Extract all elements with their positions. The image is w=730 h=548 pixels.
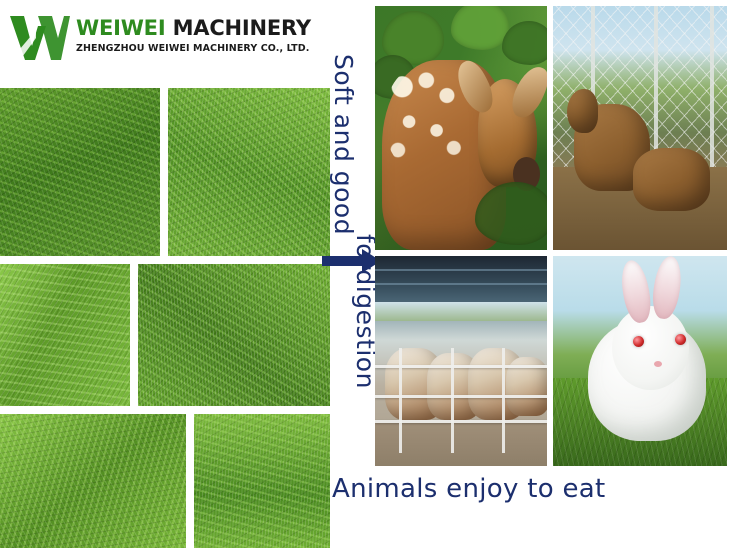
poster: WEIWEI MACHINERY ZHENGZHOU WEIWEI MACHIN… <box>0 0 730 548</box>
photo-divider-h <box>375 250 727 256</box>
weiwei-w-logo-icon <box>8 12 72 64</box>
photo-deer-in-enclosure <box>553 6 727 250</box>
brand-subtitle: ZHENGZHOU WEIWEI MACHINERY CO., LTD. <box>76 43 306 54</box>
bottom-caption: Animals enjoy to eat <box>332 474 606 504</box>
photo-deer-in-woods <box>375 6 547 250</box>
brand-logo: WEIWEI MACHINERY ZHENGZHOU WEIWEI MACHIN… <box>8 10 308 72</box>
vertical-headline: Soft and good fordigestion <box>322 54 358 235</box>
chopped-grass-collage <box>0 88 330 548</box>
grass-divider-h1 <box>0 256 330 264</box>
photo-white-rabbit <box>553 256 727 466</box>
photo-divider-v <box>547 6 553 466</box>
grass-cell-1 <box>0 88 160 256</box>
grass-cell-5 <box>0 414 186 548</box>
animal-photo-grid <box>375 6 727 466</box>
photo-cattle-in-barn <box>375 256 547 466</box>
grass-divider-v3 <box>186 414 194 548</box>
brand-title: WEIWEI MACHINERY <box>76 16 306 40</box>
grass-divider-v2 <box>130 264 138 406</box>
vertical-headline-line1: Soft and good <box>329 54 358 235</box>
brand-title-accent: WEIWEI <box>76 16 165 40</box>
grass-divider-v1 <box>160 88 168 256</box>
grass-divider-h2 <box>0 406 330 414</box>
grass-cell-2 <box>168 88 330 256</box>
grass-cell-6 <box>194 414 330 548</box>
grass-cell-4 <box>138 264 330 406</box>
right-arrow-icon <box>322 248 382 274</box>
brand-title-rest: MACHINERY <box>165 16 310 40</box>
grass-cell-3 <box>0 264 130 406</box>
